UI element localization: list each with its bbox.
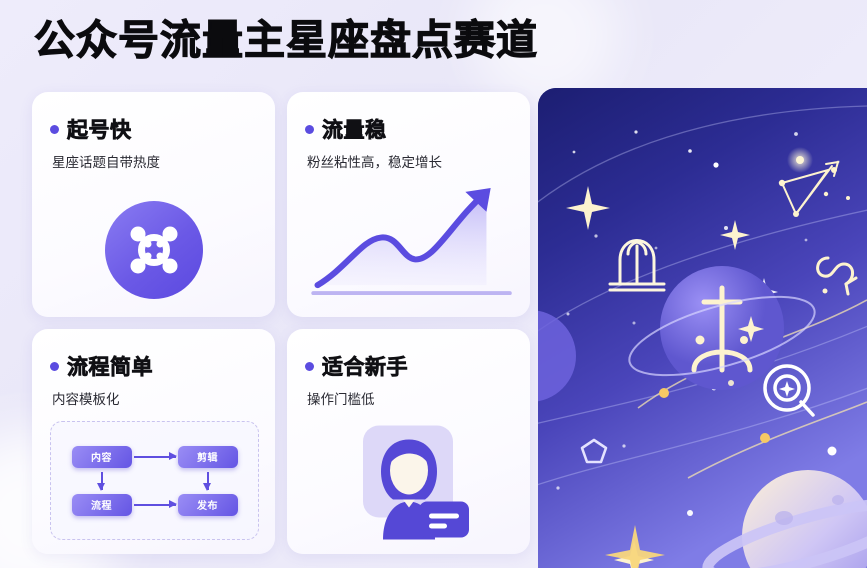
- card-simple-process[interactable]: 流程简单 内容模板化 内容 剪辑 流程 发布: [32, 329, 275, 554]
- card-artwork: [32, 178, 275, 317]
- card-subtitle: 操作门槛低: [307, 388, 512, 408]
- flow-arrow-down-right: [207, 472, 209, 490]
- bullet-dot-icon: [50, 125, 59, 134]
- growth-chart-icon: [305, 182, 516, 301]
- card-header: 流程简单: [50, 351, 257, 381]
- bullet-dot-icon: [305, 125, 314, 134]
- card-artwork: [287, 178, 530, 317]
- flow-arrow-right-bottom: [134, 504, 176, 506]
- card-subtitle: 粉丝粘性高，稳定增长: [307, 151, 512, 171]
- page-title: 公众号流量主星座盘点赛道: [34, 16, 538, 65]
- card-artwork: 内容 剪辑 流程 发布: [32, 415, 275, 554]
- bullet-dot-icon: [50, 362, 59, 371]
- card-beginner-friendly[interactable]: 适合新手 操作门槛低: [287, 329, 530, 554]
- card-artwork: [287, 415, 530, 554]
- flow-grid: 内容 剪辑 流程 发布: [72, 446, 238, 516]
- feature-card-grid: 起号快 星座话题自带热度: [32, 92, 530, 554]
- flow-diagram-icon: 内容 剪辑 流程 发布: [50, 421, 259, 540]
- card-subtitle: 内容模板化: [52, 388, 257, 408]
- card-stable-traffic[interactable]: 流量稳 粉丝粘性高，稳定增长: [287, 92, 530, 317]
- network-hub-icon: [105, 201, 203, 299]
- card-header: 起号快: [50, 114, 257, 144]
- flow-box-publish: 发布: [178, 494, 238, 516]
- flow-box-process: 流程: [72, 494, 132, 516]
- card-title: 流量稳: [322, 114, 387, 144]
- bullet-dot-icon: [305, 362, 314, 371]
- orbit-dot: [760, 433, 770, 443]
- card-header: 适合新手: [305, 351, 512, 381]
- orbit-dot: [828, 447, 837, 456]
- page-root: 公众号流量主星座盘点赛道 起号快 星座话题自带热度: [0, 0, 867, 568]
- cosmos-svg: [538, 88, 867, 568]
- card-title: 起号快: [67, 114, 132, 144]
- star-glow: [787, 147, 813, 173]
- card-subtitle: 星座话题自带热度: [52, 151, 257, 171]
- flow-arrow-down-left: [101, 472, 103, 490]
- flow-box-edit: 剪辑: [178, 446, 238, 468]
- person-avatar-icon: [345, 423, 473, 546]
- card-fast-start[interactable]: 起号快 星座话题自带热度: [32, 92, 275, 317]
- card-title: 流程简单: [67, 351, 153, 381]
- starry-zodiac-illustration: [538, 88, 867, 568]
- orbit-dot: [659, 388, 669, 398]
- card-header: 流量稳: [305, 114, 512, 144]
- card-title: 适合新手: [322, 351, 408, 381]
- flow-box-content: 内容: [72, 446, 132, 468]
- flow-arrow-right-top: [134, 456, 176, 458]
